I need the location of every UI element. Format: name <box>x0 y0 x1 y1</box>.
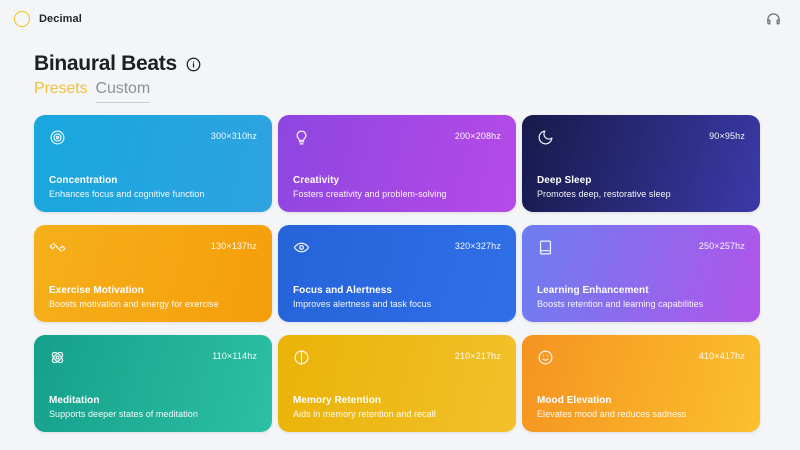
card-bottom: Meditation Supports deeper states of med… <box>49 395 257 419</box>
card-title: Creativity <box>293 175 501 186</box>
card-top: 110×114hz <box>49 349 257 366</box>
preset-card-meditation[interactable]: 110×114hz Meditation Supports deeper sta… <box>34 335 272 432</box>
card-top: 410×417hz <box>537 349 745 366</box>
card-bottom: Deep Sleep Promotes deep, restorative sl… <box>537 175 745 199</box>
tab-bar: Presets Custom <box>34 79 800 103</box>
book-icon <box>537 239 554 256</box>
card-top: 250×257hz <box>537 239 745 256</box>
card-frequency: 410×417hz <box>699 349 745 361</box>
preset-card-focus-and-alertness[interactable]: 320×327hz Focus and Alertness Improves a… <box>278 225 516 322</box>
smile-icon <box>537 349 554 366</box>
card-bottom: Mood Elevation Elevates mood and reduces… <box>537 395 745 419</box>
card-description: Promotes deep, restorative sleep <box>537 189 745 199</box>
card-title: Concentration <box>49 175 257 186</box>
preset-card-mood-elevation[interactable]: 410×417hz Mood Elevation Elevates mood a… <box>522 335 760 432</box>
card-frequency: 110×114hz <box>212 349 257 361</box>
card-title: Deep Sleep <box>537 175 745 186</box>
card-title: Meditation <box>49 395 257 406</box>
card-title: Memory Retention <box>293 395 501 406</box>
preset-card-creativity[interactable]: 200×208hz Creativity Fosters creativity … <box>278 115 516 212</box>
brain-icon <box>293 349 310 366</box>
card-title: Exercise Motivation <box>49 285 257 296</box>
card-title: Focus and Alertness <box>293 285 501 296</box>
card-top: 200×208hz <box>293 129 501 146</box>
preset-card-concentration[interactable]: 300×310hz Concentration Enhances focus a… <box>34 115 272 212</box>
card-top: 210×217hz <box>293 349 501 366</box>
info-icon[interactable] <box>186 57 201 72</box>
card-title: Mood Elevation <box>537 395 745 406</box>
dumbbell-icon <box>49 239 66 256</box>
target-icon <box>49 129 66 146</box>
logo-circle-icon <box>14 11 30 27</box>
brand-name: Decimal <box>39 13 82 25</box>
tab-presets[interactable]: Presets <box>34 79 88 102</box>
card-bottom: Concentration Enhances focus and cogniti… <box>49 175 257 199</box>
card-frequency: 200×208hz <box>455 129 501 141</box>
card-description: Improves alertness and task focus <box>293 299 501 309</box>
eye-icon <box>293 239 310 256</box>
card-top: 320×327hz <box>293 239 501 256</box>
card-description: Boosts motivation and energy for exercis… <box>49 299 257 309</box>
moon-icon <box>537 129 554 146</box>
preset-card-memory-retention[interactable]: 210×217hz Memory Retention Aids in memor… <box>278 335 516 432</box>
preset-card-learning-enhancement[interactable]: 250×257hz Learning Enhancement Boosts re… <box>522 225 760 322</box>
card-description: Enhances focus and cognitive function <box>49 189 257 199</box>
card-frequency: 300×310hz <box>211 129 257 141</box>
card-description: Elevates mood and reduces sadness <box>537 409 745 419</box>
card-bottom: Memory Retention Aids in memory retentio… <box>293 395 501 419</box>
card-frequency: 210×217hz <box>455 349 501 361</box>
card-description: Boosts retention and learning capabiliti… <box>537 299 745 309</box>
card-frequency: 90×95hz <box>709 129 745 141</box>
heading-block: Binaural Beats Presets Custom <box>0 38 800 103</box>
tab-custom[interactable]: Custom <box>96 79 151 103</box>
card-description: Fosters creativity and problem-solving <box>293 189 501 199</box>
card-description: Supports deeper states of meditation <box>49 409 257 419</box>
card-bottom: Exercise Motivation Boosts motivation an… <box>49 285 257 309</box>
card-top: 130×137hz <box>49 239 257 256</box>
card-title: Learning Enhancement <box>537 285 745 296</box>
lightbulb-icon <box>293 129 310 146</box>
atom-icon <box>49 349 66 366</box>
card-bottom: Focus and Alertness Improves alertness a… <box>293 285 501 309</box>
card-frequency: 130×137hz <box>211 239 257 251</box>
card-bottom: Creativity Fosters creativity and proble… <box>293 175 501 199</box>
title-row: Binaural Beats <box>34 52 800 75</box>
card-description: Aids in memory retention and recall <box>293 409 501 419</box>
top-bar: Decimal <box>0 0 800 38</box>
preset-card-deep-sleep[interactable]: 90×95hz Deep Sleep Promotes deep, restor… <box>522 115 760 212</box>
card-bottom: Learning Enhancement Boosts retention an… <box>537 285 745 309</box>
card-top: 90×95hz <box>537 129 745 146</box>
card-frequency: 320×327hz <box>455 239 501 251</box>
headphones-icon[interactable] <box>762 8 784 30</box>
page-title: Binaural Beats <box>34 52 177 75</box>
card-top: 300×310hz <box>49 129 257 146</box>
brand[interactable]: Decimal <box>14 11 82 27</box>
preset-card-exercise-motivation[interactable]: 130×137hz Exercise Motivation Boosts mot… <box>34 225 272 322</box>
preset-grid: 300×310hz Concentration Enhances focus a… <box>0 103 800 432</box>
card-frequency: 250×257hz <box>699 239 745 251</box>
